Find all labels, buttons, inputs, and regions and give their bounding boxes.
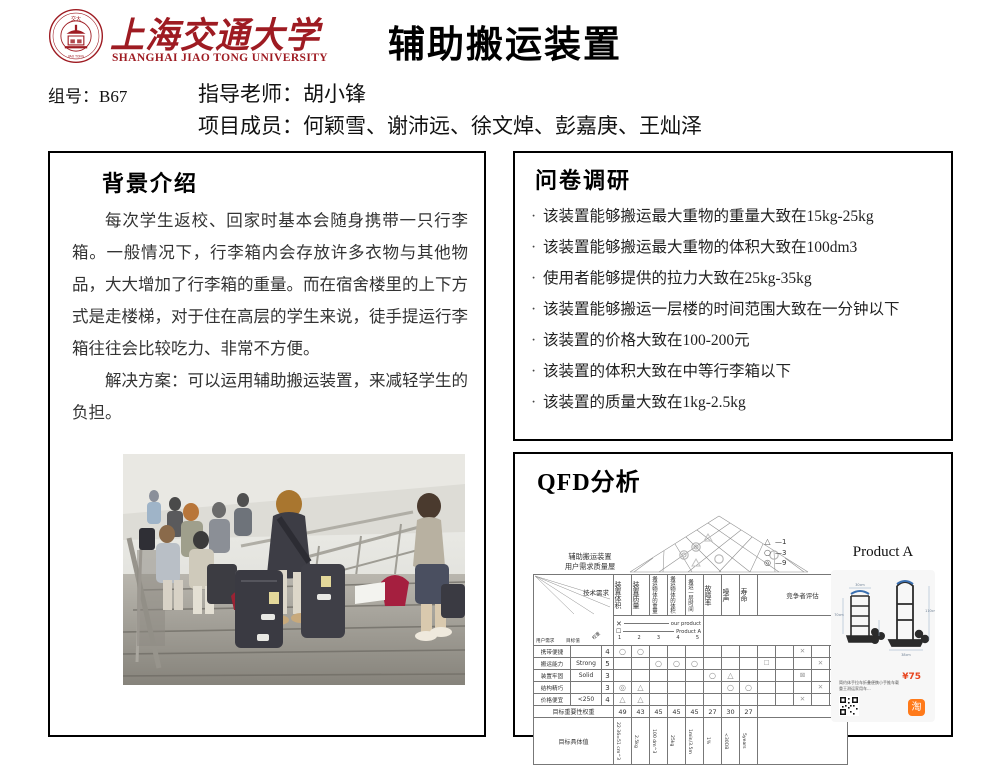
target-detail-value: 2.5kg xyxy=(632,735,639,748)
matrix-cell xyxy=(650,670,668,682)
square-icon: ☐ xyxy=(616,628,621,635)
importance-value: 43 xyxy=(632,706,650,718)
matrix-cell: △ xyxy=(632,694,650,706)
matrix-cell xyxy=(740,670,758,682)
sjtu-seal-icon: 交大 JIAO TONG xyxy=(48,8,104,64)
scale-number: 1 xyxy=(618,635,621,641)
importance-value: 30 xyxy=(722,706,740,718)
survey-item-text: 该装置能够搬运最大重物的体积大致在100dm3 xyxy=(543,239,857,256)
matrix-cell: △ xyxy=(722,670,740,682)
legend-label: —9 xyxy=(775,558,786,569)
scale-number: 2 xyxy=(637,635,640,641)
need-label: 装置牢固 xyxy=(534,670,571,682)
target-detail-value-cell: 22·36=51 cm^3 xyxy=(614,718,632,765)
target-detail-value: <30DB xyxy=(722,733,729,749)
matrix-cell xyxy=(668,694,686,706)
need-target xyxy=(571,682,602,694)
matrix-cell: ○ xyxy=(668,658,686,670)
eval-cell xyxy=(776,670,794,682)
matrix-cell xyxy=(632,670,650,682)
tech-col-header: 寿命 xyxy=(740,575,758,616)
eval-cell xyxy=(758,694,776,706)
target-detail-label: 目标具体值 xyxy=(534,718,614,765)
qfd-panel: QFD分析 辅助搬运装置 用户需求质量屋 xyxy=(513,452,953,737)
matrix-cell: △ xyxy=(614,694,632,706)
matrix-cell: ○ xyxy=(650,658,668,670)
matrix-cell: ○ xyxy=(740,682,758,694)
legend-label: —1 xyxy=(775,537,786,548)
matrix-cell xyxy=(722,658,740,670)
importance-value: 45 xyxy=(668,706,686,718)
importance-weight-row: 目标重要性权重 49 43 45 45 45 27 30 27 xyxy=(534,706,848,718)
eval-cell xyxy=(776,682,794,694)
eval-cell xyxy=(812,694,830,706)
bullet-icon: · xyxy=(531,387,543,418)
survey-panel-title: 问卷调研 xyxy=(535,163,631,195)
need-label: 搬运能力 xyxy=(534,658,571,670)
bullet-icon: · xyxy=(531,356,543,387)
eval-cell xyxy=(812,646,830,658)
circle-icon: ○ xyxy=(763,548,772,559)
eval-cell xyxy=(794,682,812,694)
matrix-cell xyxy=(704,694,722,706)
eval-cell-compa: ☐ xyxy=(758,658,776,670)
legend-row: ○ —3 xyxy=(763,548,786,559)
survey-item-text: 该装置能够搬运一层楼的时间范围大致在一分钟以下 xyxy=(543,301,900,318)
svg-text:38cm: 38cm xyxy=(901,653,911,657)
scale-number: 4 xyxy=(676,635,679,641)
survey-item-text: 该装置的质量大致在1kg-2.5kg xyxy=(543,394,746,411)
need-target: Strong xyxy=(571,658,602,670)
target-detail-value-cell: 1% xyxy=(704,718,722,765)
house-of-quality-figure: 辅助搬运装置 用户需求质量屋 △ —1 xyxy=(523,492,947,732)
survey-item: ·该装置能够搬运一层楼的时间范围大致在一分钟以下 xyxy=(531,294,943,325)
importance-value: 27 xyxy=(740,706,758,718)
target-detail-value: 1% xyxy=(704,737,711,744)
matrix-cell: ◎ xyxy=(614,682,632,694)
matrix-cell xyxy=(686,670,704,682)
legend-row: △ —1 xyxy=(763,537,786,548)
eval-cell xyxy=(776,694,794,706)
ours-label: our product xyxy=(671,621,701,627)
need-weight: 4 xyxy=(602,646,614,658)
tech-col-label: 噪声 xyxy=(722,588,729,602)
need-label: 携带便捷 xyxy=(534,646,571,658)
matrix-cell xyxy=(614,670,632,682)
compa-label: Product A xyxy=(676,629,701,635)
tech-col-header: 装置体积 xyxy=(614,575,632,616)
user-demand-header: 用户需求 xyxy=(536,638,554,644)
triangle-icon: △ xyxy=(763,537,772,548)
survey-item-text: 该装置能够搬运最大重物的重量大致在15kg-25kg xyxy=(543,208,874,225)
tech-col-header: 搬运物体的重量 xyxy=(650,575,668,616)
svg-text:30cm: 30cm xyxy=(855,583,865,587)
university-logo: 交大 JIAO TONG 上海交通大学 SHANGHAI JIAO TONG U… xyxy=(48,6,306,68)
matrix-cell: ○ xyxy=(632,646,650,658)
matrix-cell xyxy=(704,658,722,670)
scale-numbers: 1 2 3 4 5 xyxy=(616,635,701,641)
page-header: 交大 JIAO TONG 上海交通大学 SHANGHAI JIAO TONG U… xyxy=(0,0,1000,145)
stairs-luggage-photo xyxy=(123,454,465,685)
tech-col-header: 搬运物体的体积 xyxy=(668,575,686,616)
eval-cell-ours: ✕ xyxy=(794,694,812,706)
eval-cell xyxy=(758,682,776,694)
qfd-legend: △ —1 ○ —3 ◎ —9 xyxy=(763,537,786,569)
need-label: 价格便宜 xyxy=(534,694,571,706)
background-text: 每次学生返校、回家时基本会随身携带一只行李箱。一般情况下，行李箱内会存放许多衣物… xyxy=(72,205,468,429)
tech-col-label: 搬运物体的重量 xyxy=(650,576,657,614)
legend-compa: ☐ Product A xyxy=(616,628,701,635)
svg-text:70cm: 70cm xyxy=(834,613,844,617)
need-weight: 3 xyxy=(602,670,614,682)
matrix-cell xyxy=(650,646,668,658)
background-paragraph: 每次学生返校、回家时基本会随身携带一只行李箱。一般情况下，行李箱内会存放许多衣物… xyxy=(72,205,468,365)
table-row: 价格便宜 <250 4 △ △ ✕ ☐ xyxy=(534,694,848,706)
matrix-cell: ○ xyxy=(704,670,722,682)
target-detail-value: 25kg xyxy=(668,735,675,746)
need-weight: 3 xyxy=(602,682,614,694)
matrix-cell xyxy=(650,682,668,694)
eval-cell-both: ⊠ xyxy=(794,670,812,682)
survey-item: ·使用者能够提供的拉力大致在25kg-35kg xyxy=(531,263,943,294)
tech-col-header: 搬运一层时间 xyxy=(686,575,704,616)
matrix-cell xyxy=(668,670,686,682)
eval-cell-ours: ✕ xyxy=(794,646,812,658)
importance-value: 27 xyxy=(704,706,722,718)
background-paragraph: 解决方案：可以运用辅助搬运装置，来减轻学生的负担。 xyxy=(72,365,468,429)
need-target: <250 xyxy=(571,694,602,706)
importance-value: 45 xyxy=(686,706,704,718)
table-row: 结构精巧 3 ◎ △ ○ ○ ✕ ☐ xyxy=(534,682,848,694)
tech-col-label: 装置质量 xyxy=(632,581,639,609)
product-a-card: 30cm 70cm 110cm 38cm 简约体手拉车折叠便携小 xyxy=(831,570,935,722)
matrix-cell xyxy=(632,658,650,670)
legend-row: ◎ —9 xyxy=(763,558,786,569)
matrix-cell xyxy=(686,646,704,658)
double-circle-icon: ◎ xyxy=(763,558,772,569)
advisor-line: 指导老师：胡小锋 xyxy=(198,78,366,108)
target-detail-value-cell: 1min/3.5m xyxy=(686,718,704,765)
matrix-cell: △ xyxy=(632,682,650,694)
tech-col-label: 装置体积 xyxy=(614,581,621,609)
matrix-cell xyxy=(740,658,758,670)
svg-text:JIAO TONG: JIAO TONG xyxy=(67,54,85,58)
eval-cell xyxy=(794,658,812,670)
matrix-cell xyxy=(704,646,722,658)
eval-cell xyxy=(776,658,794,670)
bullet-icon: · xyxy=(531,325,543,356)
weight-header: 权重 xyxy=(591,631,602,641)
qr-code-icon xyxy=(839,696,859,716)
tech-col-header: 装置质量 xyxy=(632,575,650,616)
matrix-cell: ○ xyxy=(686,658,704,670)
survey-item-text: 该装置的价格大致在100-200元 xyxy=(543,332,750,349)
scale-number: 5 xyxy=(696,635,699,641)
matrix-cell xyxy=(668,646,686,658)
target-detail-value-cell: 5years xyxy=(740,718,758,765)
bullet-icon: · xyxy=(531,201,543,232)
need-target: Solid xyxy=(571,670,602,682)
table-row: 携带便捷 4 ○ ○ ✕ ☐ xyxy=(534,646,848,658)
matrix-cell xyxy=(614,658,632,670)
target-detail-value-cell: 25kg xyxy=(668,718,686,765)
members-line: 项目成员：何颖雪、谢沛远、徐文焯、彭嘉庚、王灿泽 xyxy=(198,110,702,140)
eval-cell-ours: ✕ xyxy=(812,658,830,670)
need-weight: 5 xyxy=(602,658,614,670)
background-panel-title: 背景介绍 xyxy=(102,166,198,198)
target-detail-value-cell: 2.5kg xyxy=(632,718,650,765)
eval-cell xyxy=(758,670,776,682)
page-title: 辅助搬运装置 xyxy=(335,14,675,68)
survey-item-text: 该装置的体积大致在中等行李箱以下 xyxy=(543,363,791,380)
importance-value: 45 xyxy=(650,706,668,718)
target-detail-value: 5years xyxy=(740,733,747,749)
shop-badge-icon: 淘 xyxy=(908,699,925,716)
survey-panel: 问卷调研 ·该装置能够搬运最大重物的重量大致在15kg-25kg ·该装置能够搬… xyxy=(513,151,953,441)
need-weight: 4 xyxy=(602,694,614,706)
survey-item: ·该装置能够搬运最大重物的重量大致在15kg-25kg xyxy=(531,201,943,232)
target-detail-value-cell: 100 dm^3 xyxy=(650,718,668,765)
group-number: 组号：B67 xyxy=(48,82,127,107)
university-name-en: SHANGHAI JIAO TONG UNIVERSITY xyxy=(112,52,328,64)
eval-cell xyxy=(812,670,830,682)
matrix-cell xyxy=(722,646,740,658)
need-target xyxy=(571,646,602,658)
cross-icon: ✕ xyxy=(616,620,622,628)
legend-label: —3 xyxy=(775,548,786,559)
target-value-header: 目标值 xyxy=(566,638,580,644)
svg-text:交大: 交大 xyxy=(71,15,81,22)
hoq-matrix-table: 技术需求 用户需求 目标值 权重 装置体积 装置质量 搬运物体的重量 搬运物体的… xyxy=(533,574,848,765)
importance-weight-label: 目标重要性权重 xyxy=(534,706,614,718)
survey-list: ·该装置能够搬运最大重物的重量大致在15kg-25kg ·该装置能够搬运最大重物… xyxy=(531,201,943,418)
target-detail-value-cell: <30DB xyxy=(722,718,740,765)
table-row: 装置牢固 Solid 3 ○ △ ⊠ xyxy=(534,670,848,682)
tech-col-label: 寿命 xyxy=(740,588,747,602)
tech-demand-header: 技术需求 xyxy=(583,587,609,597)
eval-cell xyxy=(776,646,794,658)
matrix-cell xyxy=(722,694,740,706)
survey-item-text: 使用者能够提供的拉力大致在25kg-35kg xyxy=(543,270,812,287)
table-row: 搬运能力 Strong 5 ○ ○ ○ ☐ ✕ xyxy=(534,658,848,670)
product-a-label: Product A xyxy=(823,544,943,561)
bullet-icon: · xyxy=(531,294,543,325)
survey-item: ·该装置能够搬运最大重物的体积大致在100dm3 xyxy=(531,232,943,263)
target-detail-value: 22·36=51 cm^3 xyxy=(614,722,621,760)
tech-col-label: 搬运物体的体积 xyxy=(668,576,675,614)
survey-item: ·该装置的体积大致在中等行李箱以下 xyxy=(531,356,943,387)
matrix-cell xyxy=(650,694,668,706)
product-description: 简约体手拉车折叠便携小手推车载重王测运家用车... xyxy=(839,680,901,692)
target-detail-row: 目标具体值 22·36=51 cm^3 2.5kg 100 dm^3 25kg … xyxy=(534,718,848,765)
hand-truck-illustration: 30cm 70cm 110cm 38cm xyxy=(831,574,935,674)
scale-number: 3 xyxy=(657,635,660,641)
eval-cell xyxy=(758,646,776,658)
survey-item: ·该装置的质量大致在1kg-2.5kg xyxy=(531,387,943,418)
tech-col-header: 故障率 xyxy=(704,575,722,616)
matrix-cell xyxy=(668,682,686,694)
tech-col-header: 噪声 xyxy=(722,575,740,616)
matrix-cell xyxy=(740,694,758,706)
product-price: ¥75 xyxy=(902,672,921,682)
bullet-icon: · xyxy=(531,263,543,294)
bullet-icon: · xyxy=(531,232,543,263)
importance-value: 49 xyxy=(614,706,632,718)
eval-cell-ours: ✕ xyxy=(812,682,830,694)
tech-col-label: 故障率 xyxy=(704,585,711,606)
legend-ours: ✕ our product xyxy=(616,620,701,628)
need-label: 结构精巧 xyxy=(534,682,571,694)
matrix-cell xyxy=(686,694,704,706)
photo-illustration xyxy=(123,454,465,685)
survey-item: ·该装置的价格大致在100-200元 xyxy=(531,325,943,356)
matrix-cell xyxy=(740,646,758,658)
matrix-cell xyxy=(704,682,722,694)
svg-text:110cm: 110cm xyxy=(925,609,935,613)
eval-cell xyxy=(758,718,848,765)
university-name-cn: 上海交通大学 xyxy=(110,7,320,58)
matrix-cell: ○ xyxy=(614,646,632,658)
table-header-row: 技术需求 用户需求 目标值 权重 装置体积 装置质量 搬运物体的重量 搬运物体的… xyxy=(534,575,848,616)
background-panel: 背景介绍 每次学生返校、回家时基本会随身携带一只行李箱。一般情况下，行李箱内会存… xyxy=(48,151,486,737)
tech-col-label: 搬运一层时间 xyxy=(686,579,693,611)
matrix-cell: ○ xyxy=(722,682,740,694)
matrix-cell xyxy=(686,682,704,694)
